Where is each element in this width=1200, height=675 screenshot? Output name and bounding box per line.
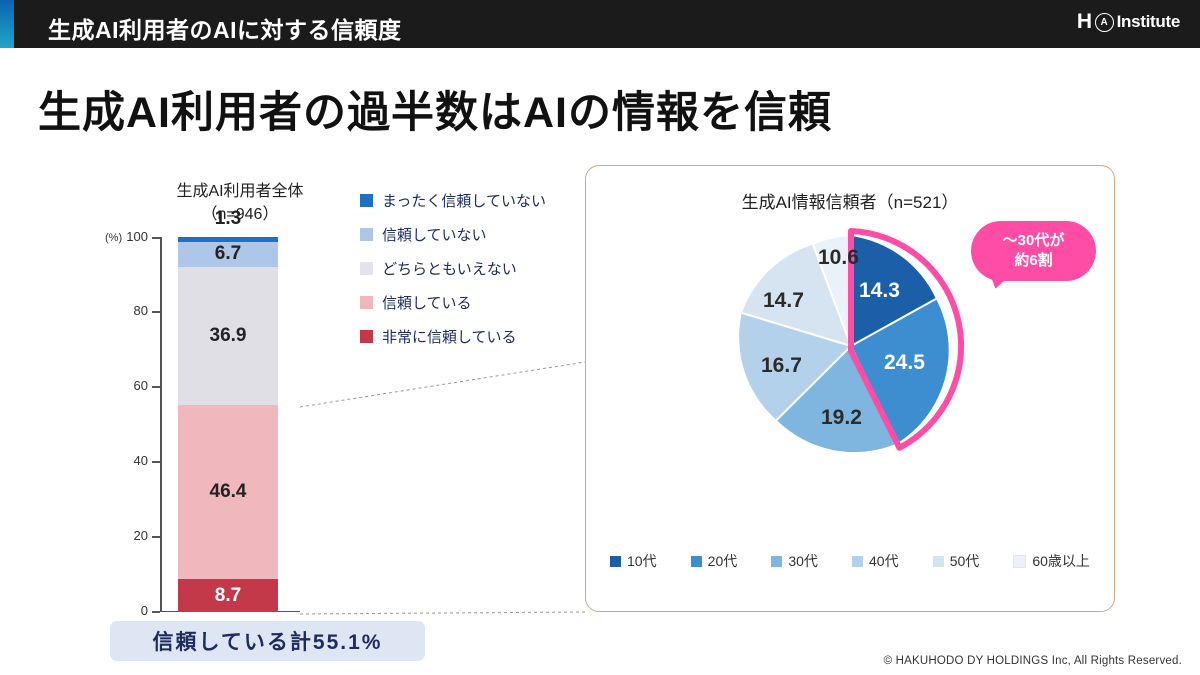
legend-swatch-icon-2 xyxy=(360,262,373,275)
header-title: 生成AI利用者のAIに対する信頼度 xyxy=(48,11,402,45)
callout-line1: ～30代が xyxy=(1003,231,1065,251)
bar-segment-neutral: 36.9 xyxy=(178,267,278,405)
logo-circle-icon: A xyxy=(1095,13,1114,32)
pie-value-40s: 16.7 xyxy=(761,354,802,378)
legend-item-0: まったく信頼していない xyxy=(360,190,546,211)
bar-segment-very-trust: 8.7 xyxy=(178,579,278,612)
y-tick-label-20: 20 xyxy=(108,528,148,543)
legend-item-2: どちらともいえない xyxy=(360,258,546,279)
pie-legend-swatch-icon-4 xyxy=(933,556,944,567)
pie-legend-swatch-icon-0 xyxy=(610,556,621,567)
legend-label-0: まったく信頼していない xyxy=(382,190,546,211)
pie-callout: ～30代が 約6割 xyxy=(971,221,1096,287)
legend-swatch-icon-4 xyxy=(360,330,373,343)
header-bar: 生成AI利用者のAIに対する信頼度 H A Institute xyxy=(0,0,1200,48)
bar-segment-value-5: 1.3 xyxy=(178,208,278,230)
pie-legend-item-4: 50代 xyxy=(933,551,980,571)
pie-legend-item-3: 40代 xyxy=(852,551,899,571)
y-tick-label-60: 60 xyxy=(108,378,148,393)
pie-legend-item-1: 20代 xyxy=(691,551,738,571)
y-tick-label-100: 100 xyxy=(108,229,148,244)
copyright-text: © HAKUHODO DY HOLDINGS Inc, All Rights R… xyxy=(884,655,1182,667)
header-accent-stripe xyxy=(0,0,14,48)
bar-chart-title-line1: 生成AI利用者全体 xyxy=(176,183,303,200)
y-tick-100 xyxy=(152,237,160,239)
pie-chart: 14.3 24.5 19.2 16.7 14.7 10.6 xyxy=(726,221,976,471)
legend-label-4: 非常に信頼している xyxy=(382,326,517,347)
bar-chart-legend: まったく信頼していない 信頼していない どちらともいえない 信頼している 非常に… xyxy=(360,190,546,360)
pie-value-50s: 14.7 xyxy=(763,289,804,313)
pie-value-10s: 14.3 xyxy=(859,279,900,303)
summary-badge-label: 信頼している計55.1% xyxy=(153,626,383,656)
pie-legend-label-0: 10代 xyxy=(627,551,657,571)
bar-segment-very-distrust xyxy=(178,237,278,242)
legend-item-3: 信頼している xyxy=(360,292,546,313)
page-title: 生成AI利用者の過半数はAIの情報を信頼 xyxy=(38,78,832,140)
bar-segment-trust: 46.4 xyxy=(178,405,278,579)
pie-value-60plus: 10.6 xyxy=(818,246,859,270)
legend-swatch-icon-1 xyxy=(360,228,373,241)
callout-bubble: ～30代が 約6割 xyxy=(971,221,1096,281)
legend-swatch-icon-3 xyxy=(360,296,373,309)
y-axis-line xyxy=(160,237,162,612)
legend-label-3: 信頼している xyxy=(382,292,472,313)
summary-badge: 信頼している計55.1% xyxy=(110,621,425,661)
logo-institute-text: Institute xyxy=(1117,12,1180,32)
stacked-bar-chart: 0 20 40 60 80 100 8.7 46.4 36.9 6.7 xyxy=(160,237,300,612)
pie-legend-label-5: 60歳以上 xyxy=(1032,551,1090,571)
pie-legend-label-4: 50代 xyxy=(950,551,980,571)
y-tick-60 xyxy=(152,386,160,388)
pie-legend-swatch-icon-2 xyxy=(771,556,782,567)
legend-swatch-icon-0 xyxy=(360,194,373,207)
y-tick-label-40: 40 xyxy=(108,453,148,468)
pie-legend-item-5: 60歳以上 xyxy=(1013,551,1090,571)
pie-legend-swatch-icon-5 xyxy=(1013,555,1026,568)
pie-legend-label-3: 40代 xyxy=(869,551,899,571)
legend-item-1: 信頼していない xyxy=(360,224,546,245)
pie-chart-title: 生成AI情報信頼者（n=521） xyxy=(586,188,1114,213)
bar-segment-distrust: 6.7 xyxy=(178,242,278,267)
pie-legend-label-1: 20代 xyxy=(708,551,738,571)
pie-legend-label-2: 30代 xyxy=(788,551,818,571)
logo-h-letter: H xyxy=(1077,10,1092,34)
pie-legend-item-0: 10代 xyxy=(610,551,657,571)
y-tick-40 xyxy=(152,461,160,463)
y-tick-80 xyxy=(152,311,160,313)
y-tick-label-0: 0 xyxy=(108,603,148,618)
legend-label-1: 信頼していない xyxy=(382,224,487,245)
callout-line2: 約6割 xyxy=(1014,251,1052,271)
pie-legend-swatch-icon-3 xyxy=(852,556,863,567)
pie-chart-legend: 10代 20代 30代 40代 50代 60歳以上 xyxy=(610,551,1090,571)
pie-legend-item-2: 30代 xyxy=(771,551,818,571)
bar-plot-area: 0 20 40 60 80 100 8.7 46.4 36.9 6.7 xyxy=(160,237,300,612)
y-tick-label-80: 80 xyxy=(108,303,148,318)
y-tick-20 xyxy=(152,536,160,538)
brand-logo: H A Institute xyxy=(1077,10,1180,34)
y-tick-0 xyxy=(152,611,160,613)
legend-item-4: 非常に信頼している xyxy=(360,326,546,347)
pie-value-20s: 24.5 xyxy=(884,351,925,375)
pie-value-30s: 19.2 xyxy=(821,406,862,430)
legend-label-2: どちらともいえない xyxy=(382,258,517,279)
pie-panel: 生成AI情報信頼者（n=521） xyxy=(585,165,1115,612)
pie-legend-swatch-icon-1 xyxy=(691,556,702,567)
